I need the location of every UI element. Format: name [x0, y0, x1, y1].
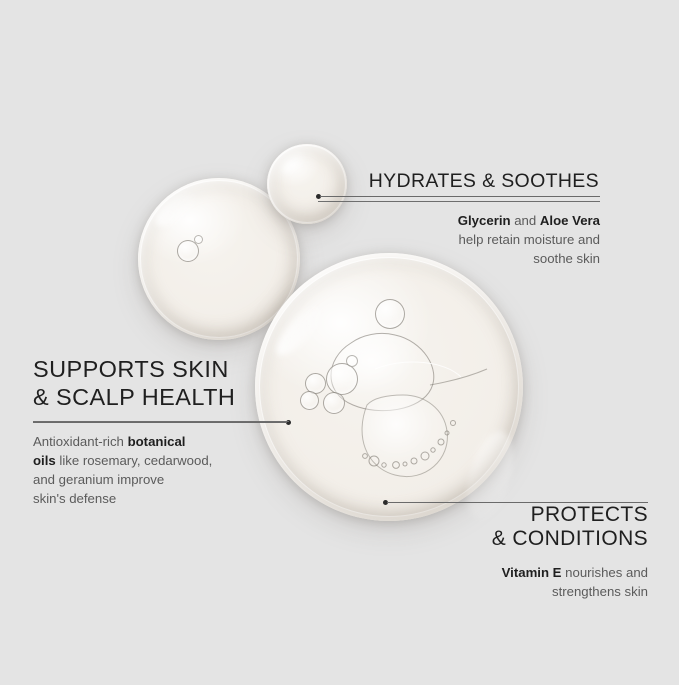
- callout-hydrates-body: Glycerin and Aloe Verahelp retain moistu…: [318, 211, 600, 268]
- callout-hydrates-rule: [318, 201, 600, 202]
- serum-ingredient-infographic: HYDRATES & SOOTHES Glycerin and Aloe Ver…: [0, 0, 679, 685]
- callout-hydrates: HYDRATES & SOOTHES Glycerin and Aloe Ver…: [318, 170, 600, 268]
- serum-droplet-large: [255, 253, 523, 521]
- callout-hydrates-heading: HYDRATES & SOOTHES: [318, 170, 600, 193]
- callout-protects-heading: PROTECTS & CONDITIONS: [385, 503, 648, 552]
- callout-supports-rule: [33, 421, 289, 422]
- callout-protects: PROTECTS & CONDITIONS Vitamin E nourishe…: [385, 503, 648, 601]
- callout-supports-heading: SUPPORTS SKIN & SCALP HEALTH: [33, 356, 289, 412]
- callout-supports: SUPPORTS SKIN & SCALP HEALTH Antioxidant…: [33, 356, 289, 508]
- callout-protects-body: Vitamin E nourishes andstrengthens skin: [385, 563, 648, 601]
- callout-supports-body: Antioxidant-rich botanicaloils like rose…: [33, 432, 289, 508]
